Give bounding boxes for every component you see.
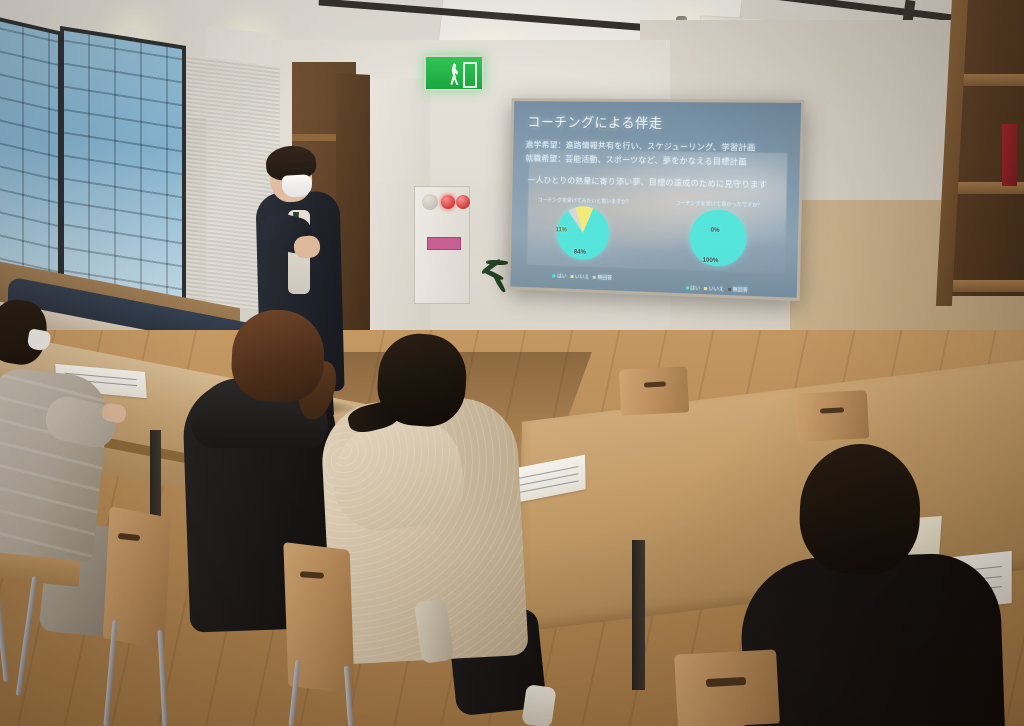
attendee-3-sock	[521, 684, 556, 726]
running-person-icon	[450, 63, 460, 85]
red-book	[1002, 124, 1017, 186]
alarm-label-sign	[427, 237, 461, 250]
pie-left-legend: はい いいえ 無回答	[553, 272, 612, 281]
pie-left-slice-label-1: 84%	[574, 248, 586, 255]
legend-item: いいえ	[704, 285, 724, 293]
pie-right-legend: はい いいえ 無回答	[686, 284, 748, 293]
pie-chart-left: コーチングを受けてみたいと思いますか？ 11% 84% はい いいえ 無回答	[527, 196, 641, 282]
paper-line	[520, 466, 578, 479]
alarm-bell-icon	[422, 194, 438, 210]
table-leg	[632, 540, 645, 690]
puffer-quilting	[0, 366, 111, 563]
seminar-room-photo: コーチングによる伴走 進学希望：進路情報共有を行い、スケジューリング、学習計画 …	[0, 0, 1024, 726]
pie-right-caption: コーチングを受けて良かったですか？	[675, 199, 763, 208]
projection-screen[interactable]: コーチングによる伴走 進学希望：進路情報共有を行い、スケジューリング、学習計画 …	[507, 98, 804, 301]
alarm-indicator-icon	[456, 195, 470, 209]
window-glass	[64, 31, 182, 312]
presentation-slide: コーチングによる伴走 進学希望：進路情報共有を行い、スケジューリング、学習計画 …	[510, 101, 801, 298]
exit-door-icon	[463, 62, 477, 88]
pie-left-slice-label-2: 11%	[555, 226, 567, 233]
alarm-indicator-icon	[441, 195, 455, 209]
legend-item: はい	[553, 272, 567, 279]
pie-chart-right: コーチングを受けて良かったですか？ 0% 100% はい いいえ 無回答	[656, 199, 781, 291]
legend-item: いいえ	[570, 273, 589, 281]
attendee-4-top	[739, 552, 1005, 726]
exit-sign	[424, 55, 484, 91]
pie-right-slice-label-2: 0%	[710, 227, 719, 234]
legend-item: 無回答	[593, 274, 612, 282]
window-left-inner	[60, 26, 186, 316]
fire-alarm-panel[interactable]	[414, 186, 470, 304]
pie-left-caption: コーチングを受けてみたいと思いますか？	[538, 196, 631, 205]
shelf-board	[950, 280, 1024, 292]
attendee-left-puffer-jacket	[0, 366, 111, 563]
slide-title: コーチングによる伴走	[527, 110, 663, 131]
legend-item: 無回答	[728, 286, 748, 294]
pie-right-slice-label-1: 100%	[702, 257, 718, 265]
legend-item: はい	[686, 284, 701, 292]
